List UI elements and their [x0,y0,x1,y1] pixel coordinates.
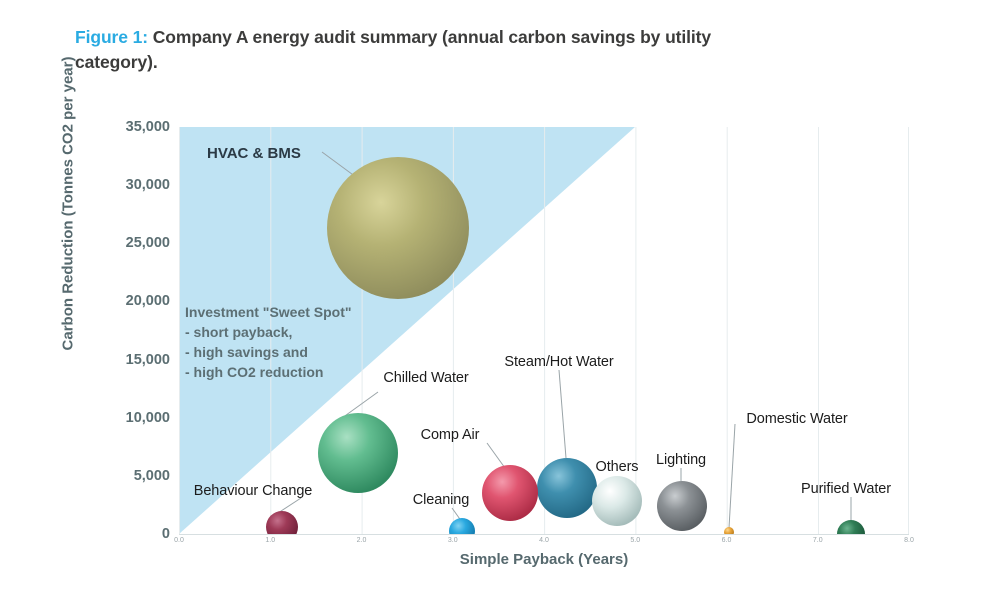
bubble-chilled-water[interactable] [318,413,398,493]
bubble-others[interactable] [592,476,642,526]
x-axis-tick-6-0: 6.0 [707,537,747,544]
bubble-label-domestic-water: Domestic Water [746,411,847,427]
sweet-spot-line-3: - high CO2 reduction [185,363,352,383]
x-axis-tick-3-0: 3.0 [433,537,473,544]
bubble-comp-air[interactable] [482,465,538,521]
bubble-label-steam-hot-water: Steam/Hot Water [504,354,613,370]
bubble-lighting[interactable] [657,481,707,531]
bubble-label-chilled-water: Chilled Water [383,370,468,386]
sweet-spot-annotation: Investment "Sweet Spot" - short payback,… [185,303,352,383]
x-axis-tick-2-0: 2.0 [342,537,382,544]
sweet-spot-line-2: - high savings and [185,343,352,363]
bubble-steam-hot-water[interactable] [537,458,597,518]
bubble-purified-water[interactable] [837,520,865,548]
bubble-label-cleaning: Cleaning [413,492,469,508]
x-axis-tick-4-0: 4.0 [524,537,564,544]
bubble-hvac-bms[interactable] [327,157,469,299]
bubble-label-hvac-bms: HVAC & BMS [207,145,301,162]
bubble-label-others: Others [596,459,639,475]
x-axis-tick-7-0: 7.0 [798,537,838,544]
bubble-label-purified-water: Purified Water [801,481,891,497]
bubble-label-behaviour-change: Behaviour Change [194,483,313,499]
x-axis-tick-1-0: 1.0 [250,537,290,544]
sweet-spot-title: Investment "Sweet Spot" [185,303,352,323]
x-axis-tick-5-0: 5.0 [615,537,655,544]
x-axis-tick-0-0: 0.0 [159,537,199,544]
sweet-spot-line-1: - short payback, [185,323,352,343]
bubble-chart: 05,00010,00015,00020,00025,00030,00035,0… [0,0,1000,600]
x-axis-tick-8-0: 8.0 [889,537,929,544]
bubble-domestic-water[interactable] [724,527,734,537]
bubble-label-comp-air: Comp Air [421,427,480,443]
bubble-label-lighting: Lighting [656,452,706,468]
plot-svg [0,0,1000,600]
